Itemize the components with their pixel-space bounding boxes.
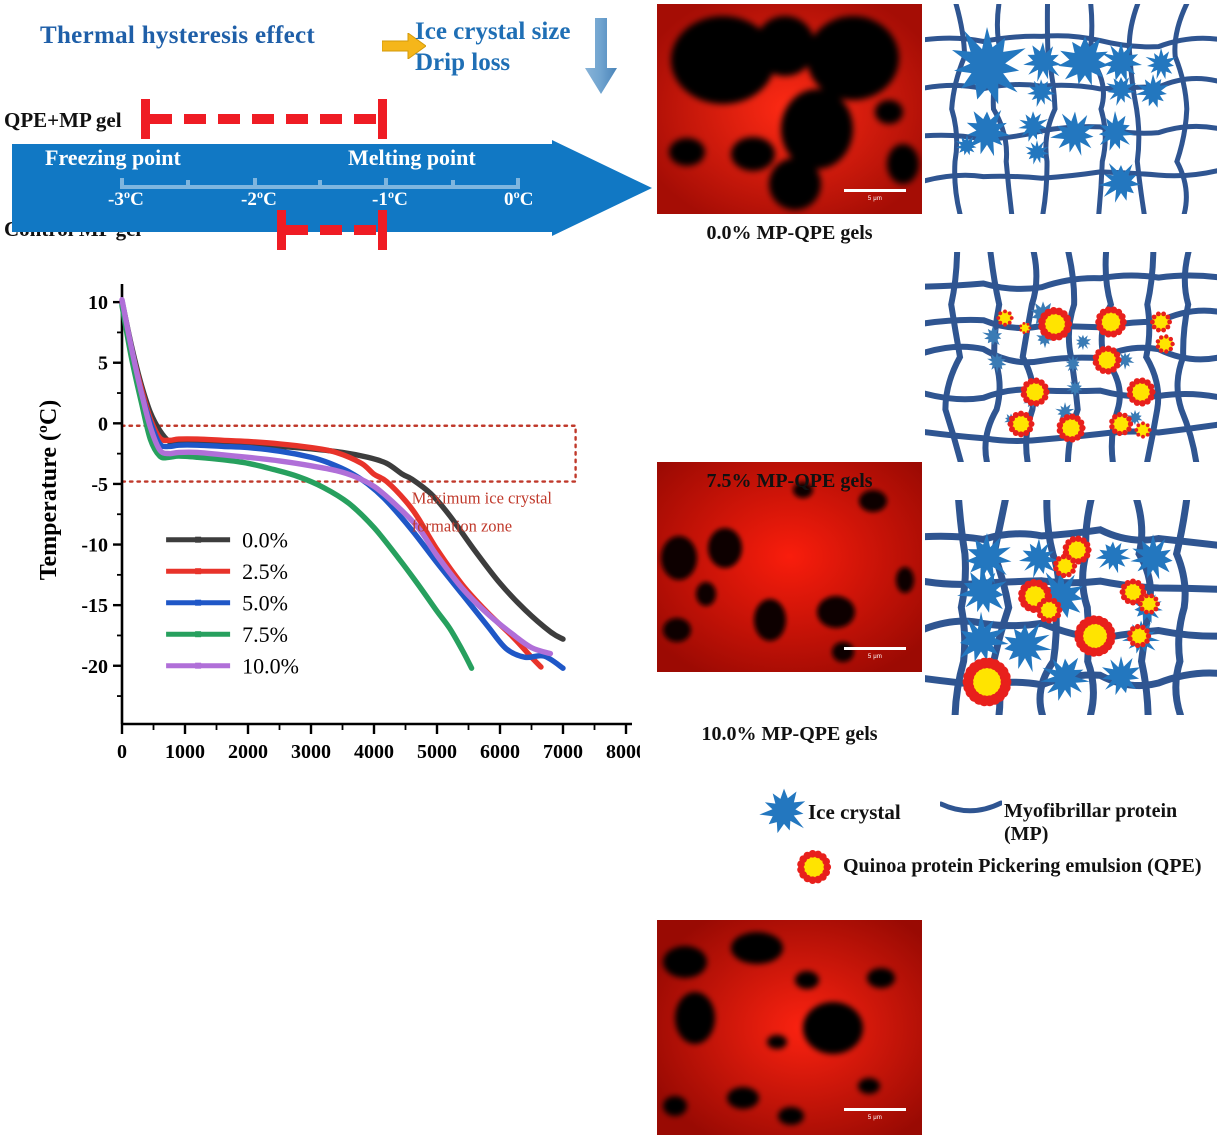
legend-mp-line-icon xyxy=(940,798,1002,820)
svg-text:0: 0 xyxy=(117,741,127,763)
svg-text:-10: -10 xyxy=(81,535,108,557)
svg-text:formation zone: formation zone xyxy=(412,516,512,535)
scale-tick-minus2: -2ºC xyxy=(241,189,277,211)
svg-text:10: 10 xyxy=(88,292,108,314)
svg-text:4000: 4000 xyxy=(354,741,394,763)
svg-text:5: 5 xyxy=(98,353,108,375)
scale-bar-0 xyxy=(844,189,906,192)
micrograph-image-2: 5 μm xyxy=(657,920,922,1135)
scale-tick-zero: 0ºC xyxy=(504,189,534,211)
effect-text-block: Ice crystal size Drip loss xyxy=(415,16,570,78)
svg-text:-5: -5 xyxy=(91,474,108,496)
legend-qpe-icon xyxy=(790,843,838,891)
panel-caption-2: 10.0% MP-QPE gels xyxy=(657,723,922,746)
legend-ice-crystal-icon xyxy=(758,785,810,837)
qpe-range-start-cap xyxy=(141,99,150,139)
gel-network-diagram-1 xyxy=(925,252,1217,462)
svg-text:10.0%: 10.0% xyxy=(242,654,299,679)
svg-text:7000: 7000 xyxy=(543,741,583,763)
svg-text:2000: 2000 xyxy=(228,741,268,763)
thermal-hysteresis-title: Thermal hysteresis effect xyxy=(40,22,315,50)
scale-tick-minus3: -3ºC xyxy=(108,189,144,211)
micrograph-image-0: 5 μm xyxy=(657,4,922,214)
scale-tick-minus1: -1ºC xyxy=(372,189,408,211)
svg-text:Maximum ice crystal: Maximum ice crystal xyxy=(412,488,553,507)
svg-text:5.0%: 5.0% xyxy=(242,591,288,616)
legend-mp-label: Myofibrillar protein (MP) xyxy=(1004,800,1222,846)
svg-text:-15: -15 xyxy=(81,595,108,617)
scale-bar-text-1: 5 μm xyxy=(844,654,906,660)
qpe-range-end-cap xyxy=(378,99,387,139)
scale-bar-1 xyxy=(844,647,906,650)
panel-caption-1: 7.5% MP-QPE gels xyxy=(657,470,922,493)
svg-text:3000: 3000 xyxy=(291,741,331,763)
down-arrow-icon xyxy=(585,18,617,94)
scale-bar-text-2: 5 μm xyxy=(844,1115,906,1121)
svg-text:Temperature (ºC): Temperature (ºC) xyxy=(36,400,62,581)
temperature-scale-ruler xyxy=(120,176,520,194)
svg-text:7.5%: 7.5% xyxy=(242,622,288,647)
cooling-curve-chart: 1050-5-10-15-200100020003000400050006000… xyxy=(30,272,640,772)
svg-text:1000: 1000 xyxy=(165,741,205,763)
micrograph-svg-2 xyxy=(657,920,922,1135)
qpe-range-dashed-bar xyxy=(150,114,378,124)
micrograph-svg-1 xyxy=(657,462,922,672)
micrograph-svg-0 xyxy=(657,4,922,214)
control-range-end-cap xyxy=(378,210,387,250)
scale-bar-text-0: 5 μm xyxy=(844,196,906,202)
freezing-point-label: Freezing point xyxy=(45,145,181,171)
melting-point-label: Melting point xyxy=(348,145,476,171)
svg-text:0: 0 xyxy=(98,413,108,435)
control-range-start-cap xyxy=(277,210,286,250)
gel-network-diagram-2 xyxy=(925,500,1217,715)
panel-caption-0: 0.0% MP-QPE gels xyxy=(657,222,922,245)
control-range-dashed-bar xyxy=(286,225,378,235)
svg-text:0.0%: 0.0% xyxy=(242,528,288,553)
svg-text:8000: 8000 xyxy=(606,741,640,763)
svg-text:-20: -20 xyxy=(81,656,108,678)
svg-text:5000: 5000 xyxy=(417,741,457,763)
legend-qpe-label: Quinoa protein Pickering emulsion (QPE) xyxy=(843,855,1202,878)
legend-ice-crystal-label: Ice crystal xyxy=(808,800,901,825)
svg-text:6000: 6000 xyxy=(480,741,520,763)
gel-network-diagram-0 xyxy=(925,4,1217,214)
effect-line-2: Drip loss xyxy=(415,47,570,78)
svg-text:2.5%: 2.5% xyxy=(242,559,288,584)
micrograph-image-1: 5 μm xyxy=(657,462,922,672)
qpe-gel-label: QPE+MP gel xyxy=(4,108,122,133)
effect-line-1: Ice crystal size xyxy=(415,16,570,47)
scale-bar-2 xyxy=(844,1108,906,1111)
